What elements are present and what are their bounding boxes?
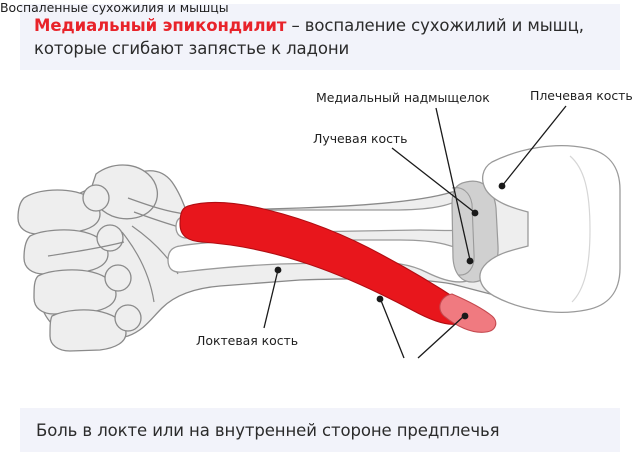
knuckle-1 bbox=[83, 185, 109, 211]
leader-dot-humerus bbox=[499, 183, 506, 190]
label-radius: Лучевая кость bbox=[313, 131, 407, 146]
leader-dot-inflamed-tendon bbox=[462, 313, 469, 320]
condition-name-emphasis: Медиальный эпикондилит bbox=[34, 16, 286, 35]
bottom-caption-text: Боль в локте или на внутренней стороне п… bbox=[36, 421, 499, 440]
anatomy-illustration-svg bbox=[0, 70, 640, 408]
knuckle-4 bbox=[115, 305, 141, 331]
finger-ring bbox=[34, 270, 116, 314]
anatomy-diagram bbox=[0, 70, 640, 408]
inflamed-tendon-insertion bbox=[440, 294, 496, 332]
bottom-caption-banner: Боль в локте или на внутренней стороне п… bbox=[20, 408, 620, 452]
top-caption-line-1: Медиальный эпикондилит – воспаление сухо… bbox=[34, 14, 606, 37]
label-inflamed-tendons: Воспаленные сухожилия и мышцы bbox=[0, 0, 229, 15]
leader-line-inflamed-muscle bbox=[380, 298, 404, 358]
label-humerus: Плечевая кость bbox=[530, 88, 633, 103]
leader-dot-radius bbox=[472, 210, 479, 217]
illustration-page: Медиальный эпикондилит – воспаление сухо… bbox=[0, 0, 640, 458]
knuckle-3 bbox=[105, 265, 131, 291]
top-caption-line-1-rest: – воспаление сухожилий и мышц, bbox=[286, 16, 584, 35]
leader-dot-inflamed-muscle bbox=[377, 296, 384, 303]
leader-dot-medial-epicondyle bbox=[467, 258, 474, 265]
label-medial-epicondyle: Медиальный надмыщелок bbox=[316, 90, 490, 105]
label-ulna: Локтевая кость bbox=[196, 333, 298, 348]
top-caption-line-2: которые сгибают запястье к ладони bbox=[34, 37, 606, 60]
finger-middle bbox=[24, 230, 108, 274]
leader-dot-ulna bbox=[275, 267, 282, 274]
